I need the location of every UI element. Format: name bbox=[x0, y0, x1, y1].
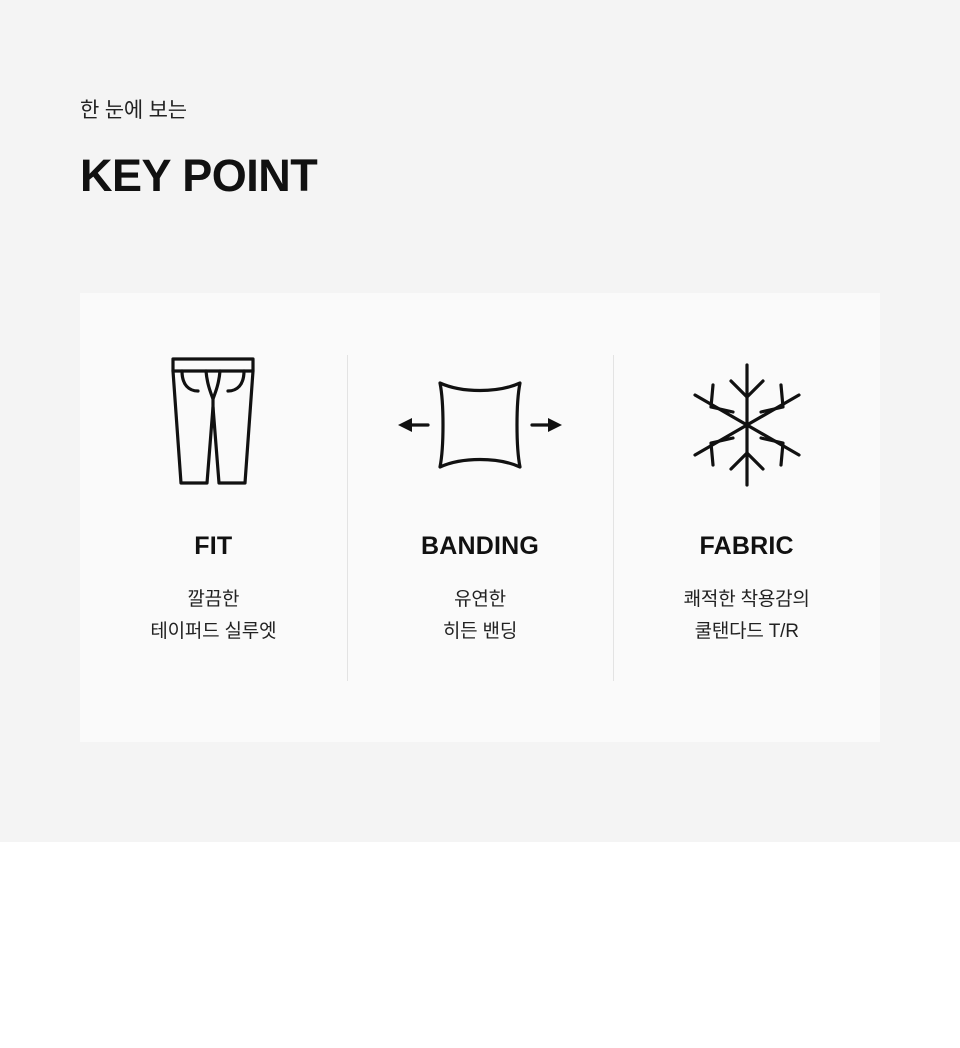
key-point-description: 유연한 히든 밴딩 bbox=[443, 584, 517, 648]
pants-icon bbox=[128, 350, 298, 500]
key-point-description-line-1: 깔끔한 bbox=[150, 584, 276, 616]
key-point-section: 한 눈에 보는 KEY POINT bbox=[0, 0, 960, 842]
key-point-description-line-1: 유연한 bbox=[443, 584, 517, 616]
key-point-item-fit: FIT 깔끔한 테이퍼드 실루엣 bbox=[80, 293, 347, 742]
key-point-description: 깔끔한 테이퍼드 실루엣 bbox=[150, 584, 276, 648]
key-point-page: 한 눈에 보는 KEY POINT bbox=[0, 0, 960, 1048]
stretch-fabric-icon bbox=[395, 350, 565, 500]
key-point-description-line-1: 쾌적한 착용감의 bbox=[684, 584, 810, 616]
page-title: KEY POINT bbox=[80, 150, 780, 202]
key-point-description-line-2: 쿨탠다드 T/R bbox=[684, 616, 810, 648]
key-point-description-line-2: 히든 밴딩 bbox=[443, 616, 517, 648]
section-eyebrow: 한 눈에 보는 bbox=[80, 96, 780, 126]
key-point-description: 쾌적한 착용감의 쿨탠다드 T/R bbox=[684, 584, 810, 648]
key-point-title: BANDING bbox=[421, 532, 539, 560]
key-point-title: FABRIC bbox=[700, 532, 794, 560]
snowflake-icon bbox=[662, 350, 832, 500]
key-point-description-line-2: 테이퍼드 실루엣 bbox=[150, 616, 276, 648]
key-point-item-banding: BANDING 유연한 히든 밴딩 bbox=[347, 293, 614, 742]
key-point-title: FIT bbox=[194, 532, 232, 560]
key-point-panel: FIT 깔끔한 테이퍼드 실루엣 bbox=[80, 293, 880, 742]
section-heading: 한 눈에 보는 KEY POINT bbox=[80, 96, 780, 202]
key-point-item-fabric: FABRIC 쾌적한 착용감의 쿨탠다드 T/R bbox=[613, 293, 880, 742]
